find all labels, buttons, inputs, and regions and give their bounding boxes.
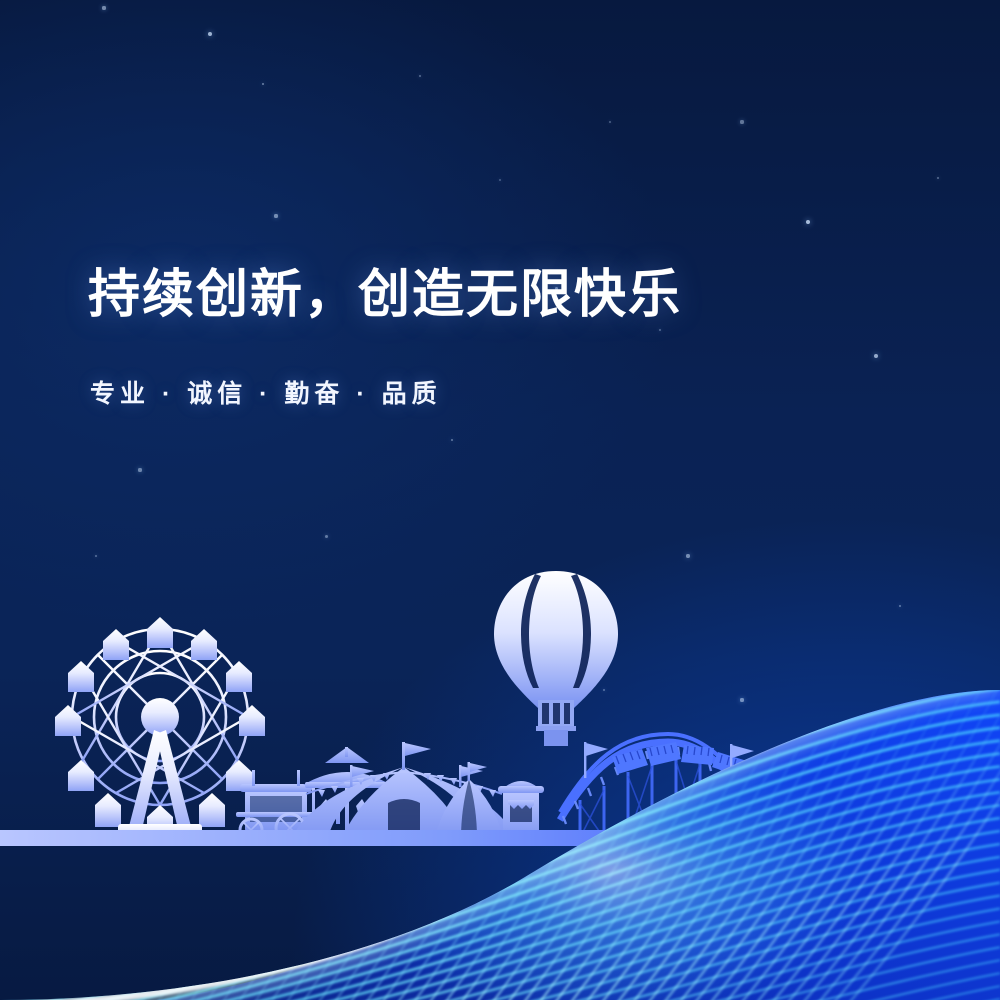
wave-lattice-line [0, 935, 180, 1000]
wave-lattice-line [0, 983, 20, 1000]
page-subtitle: 专业 · 诚信 · 勤奋 · 品质 [90, 374, 442, 410]
wave-lattice-line [0, 965, 80, 1000]
page-title: 持续创新，创造无限快乐 [88, 266, 682, 324]
wave-lattice-line [0, 971, 60, 1000]
glowing-wave-mesh [0, 0, 1000, 1000]
wave-lattice-line [0, 941, 160, 1000]
wave-lattice-line [0, 959, 100, 1000]
wave-lattice-line [0, 977, 40, 1000]
wave-lattice-line [0, 953, 120, 1000]
wave-lattice-line [0, 947, 140, 1000]
banner-canvas: 持续创新，创造无限快乐 专业 · 诚信 · 勤奋 · 品质 [0, 0, 1000, 1000]
